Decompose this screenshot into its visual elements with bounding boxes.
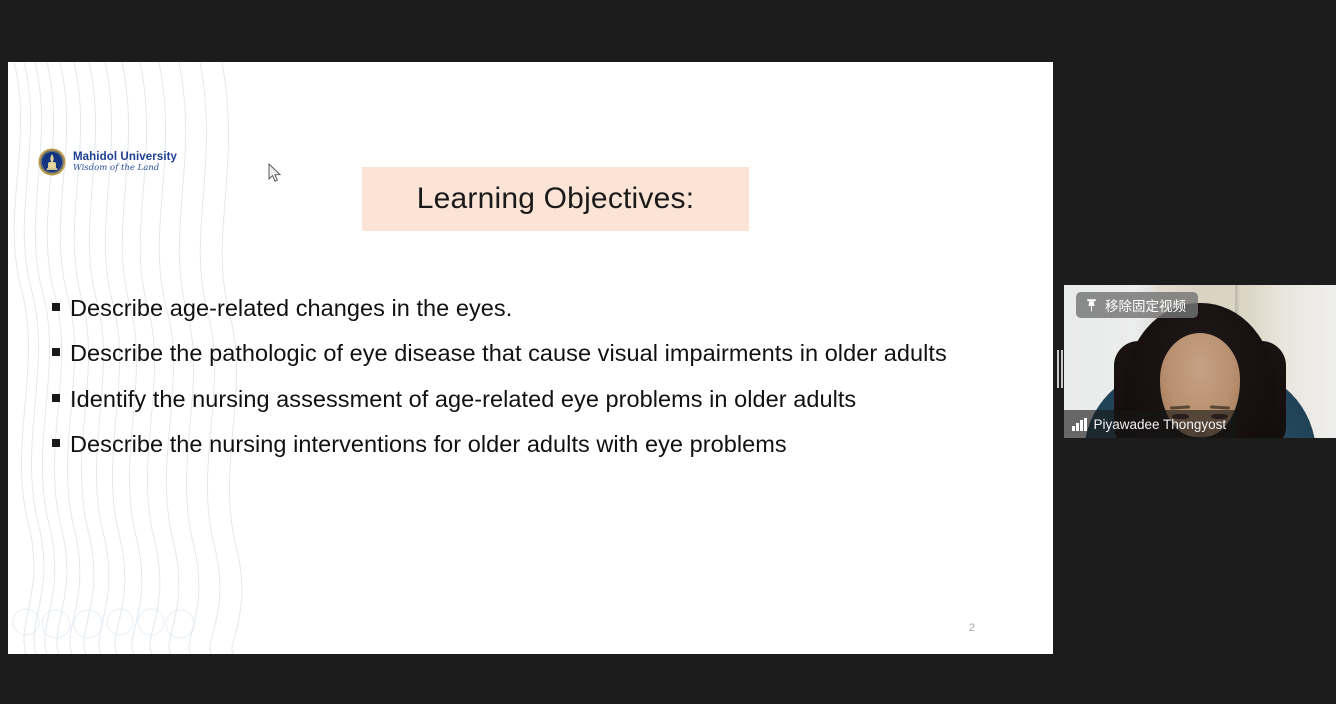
bullet-text: Identify the nursing assessment of age-r…: [70, 381, 856, 417]
list-item: Describe the pathologic of eye disease t…: [52, 335, 1027, 371]
square-bullet-icon: [52, 303, 60, 311]
bullet-text: Describe the pathologic of eye disease t…: [70, 335, 947, 371]
slide-bullet-list: Describe age-related changes in the eyes…: [52, 290, 1027, 472]
mahidol-logo: Mahidol University Wisdom of the Land: [38, 148, 177, 176]
list-item: Describe age-related changes in the eyes…: [52, 290, 1027, 326]
square-bullet-icon: [52, 439, 60, 447]
square-bullet-icon: [52, 348, 60, 356]
panel-resize-handle[interactable]: [1056, 349, 1064, 389]
logo-text-block: Mahidol University Wisdom of the Land: [73, 151, 177, 173]
list-item: Describe the nursing interventions for o…: [52, 426, 1027, 462]
slide-title-box: Learning Objectives:: [362, 167, 749, 231]
square-bullet-icon: [52, 394, 60, 402]
unpin-video-button[interactable]: 移除固定视频: [1076, 292, 1198, 318]
logo-tagline: Wisdom of the Land: [73, 164, 177, 173]
slide-watermark-decoration: [8, 574, 308, 654]
list-item: Identify the nursing assessment of age-r…: [52, 381, 1027, 417]
slide-page-number: 2: [969, 622, 975, 634]
resize-grip-bar: [1057, 350, 1059, 388]
unpin-video-label: 移除固定视频: [1105, 295, 1186, 315]
meeting-stage: Mahidol University Wisdom of the Land Le…: [0, 0, 1336, 704]
slide-title: Learning Objectives:: [417, 182, 695, 216]
shared-slide[interactable]: Mahidol University Wisdom of the Land Le…: [8, 62, 1053, 654]
video-person-brow-left: [1170, 405, 1190, 409]
bullet-text: Describe age-related changes in the eyes…: [70, 290, 512, 326]
participant-video-tile[interactable]: 移除固定视频 Piyawadee Thongyost: [1064, 285, 1336, 438]
logo-university-name: Mahidol University: [73, 151, 177, 163]
signal-bars-icon: [1072, 418, 1087, 431]
bullet-text: Describe the nursing interventions for o…: [70, 426, 787, 462]
mahidol-seal-icon: [38, 148, 66, 176]
pin-icon: [1085, 298, 1098, 313]
resize-grip-bar: [1061, 350, 1063, 388]
participant-name-strip: Piyawadee Thongyost: [1064, 410, 1237, 438]
video-person-brow-right: [1210, 405, 1230, 409]
participant-name: Piyawadee Thongyost: [1094, 417, 1227, 432]
